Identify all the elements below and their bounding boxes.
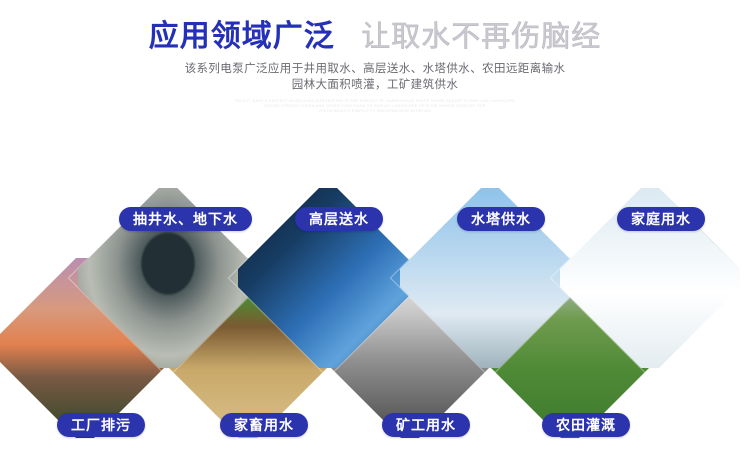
badge-household-water[interactable]: 家庭用水 xyxy=(617,207,705,231)
description-line-2: 园林大面积喷灌，工矿建筑供水 xyxy=(0,77,750,93)
badge-high-rise-supply[interactable]: 高层送水 xyxy=(295,207,383,231)
decorative-english-line-3: VISION BEAUTY SIMPLICITY UNKNOWN NOW ACH… xyxy=(0,109,750,114)
page-title: 应用领域广泛 xyxy=(149,22,335,52)
description: 该系列电泵广泛应用于井用取水、高层送水、水塔供水、农田远距离输水 园林大面积喷灌… xyxy=(0,61,750,93)
header: 应用领域广泛 让取水不再伤脑经 该系列电泵广泛应用于井用取水、高层送水、水塔供水… xyxy=(0,0,750,115)
application-diamond-gallery: 工厂排污抽井水、地下水家畜用水高层送水矿工用水水塔供水农田灌溉家庭用水 xyxy=(0,178,750,468)
badge-well-groundwater[interactable]: 抽井水、地下水 xyxy=(119,207,252,231)
title-row: 应用领域广泛 让取水不再伤脑经 xyxy=(0,22,750,52)
decorative-english-text: SELECT MAKE A PERFECT MODELLING INTEGRAT… xyxy=(0,99,750,115)
badge-factory-discharge[interactable]: 工厂排污 xyxy=(57,413,145,437)
description-line-1: 该系列电泵广泛应用于井用取水、高层送水、水塔供水、农田远距离输水 xyxy=(0,61,750,77)
application-banner: 应用领域广泛 让取水不再伤脑经 该系列电泵广泛应用于井用取水、高层送水、水塔供水… xyxy=(0,0,750,468)
badge-livestock-water[interactable]: 家畜用水 xyxy=(220,413,308,437)
badge-miner-water[interactable]: 矿工用水 xyxy=(382,413,470,437)
badge-water-tower-supply[interactable]: 水塔供水 xyxy=(457,207,545,231)
badge-farmland-irrigation[interactable]: 农田灌溉 xyxy=(542,413,630,437)
page-subtitle: 让取水不再伤脑经 xyxy=(361,23,601,52)
